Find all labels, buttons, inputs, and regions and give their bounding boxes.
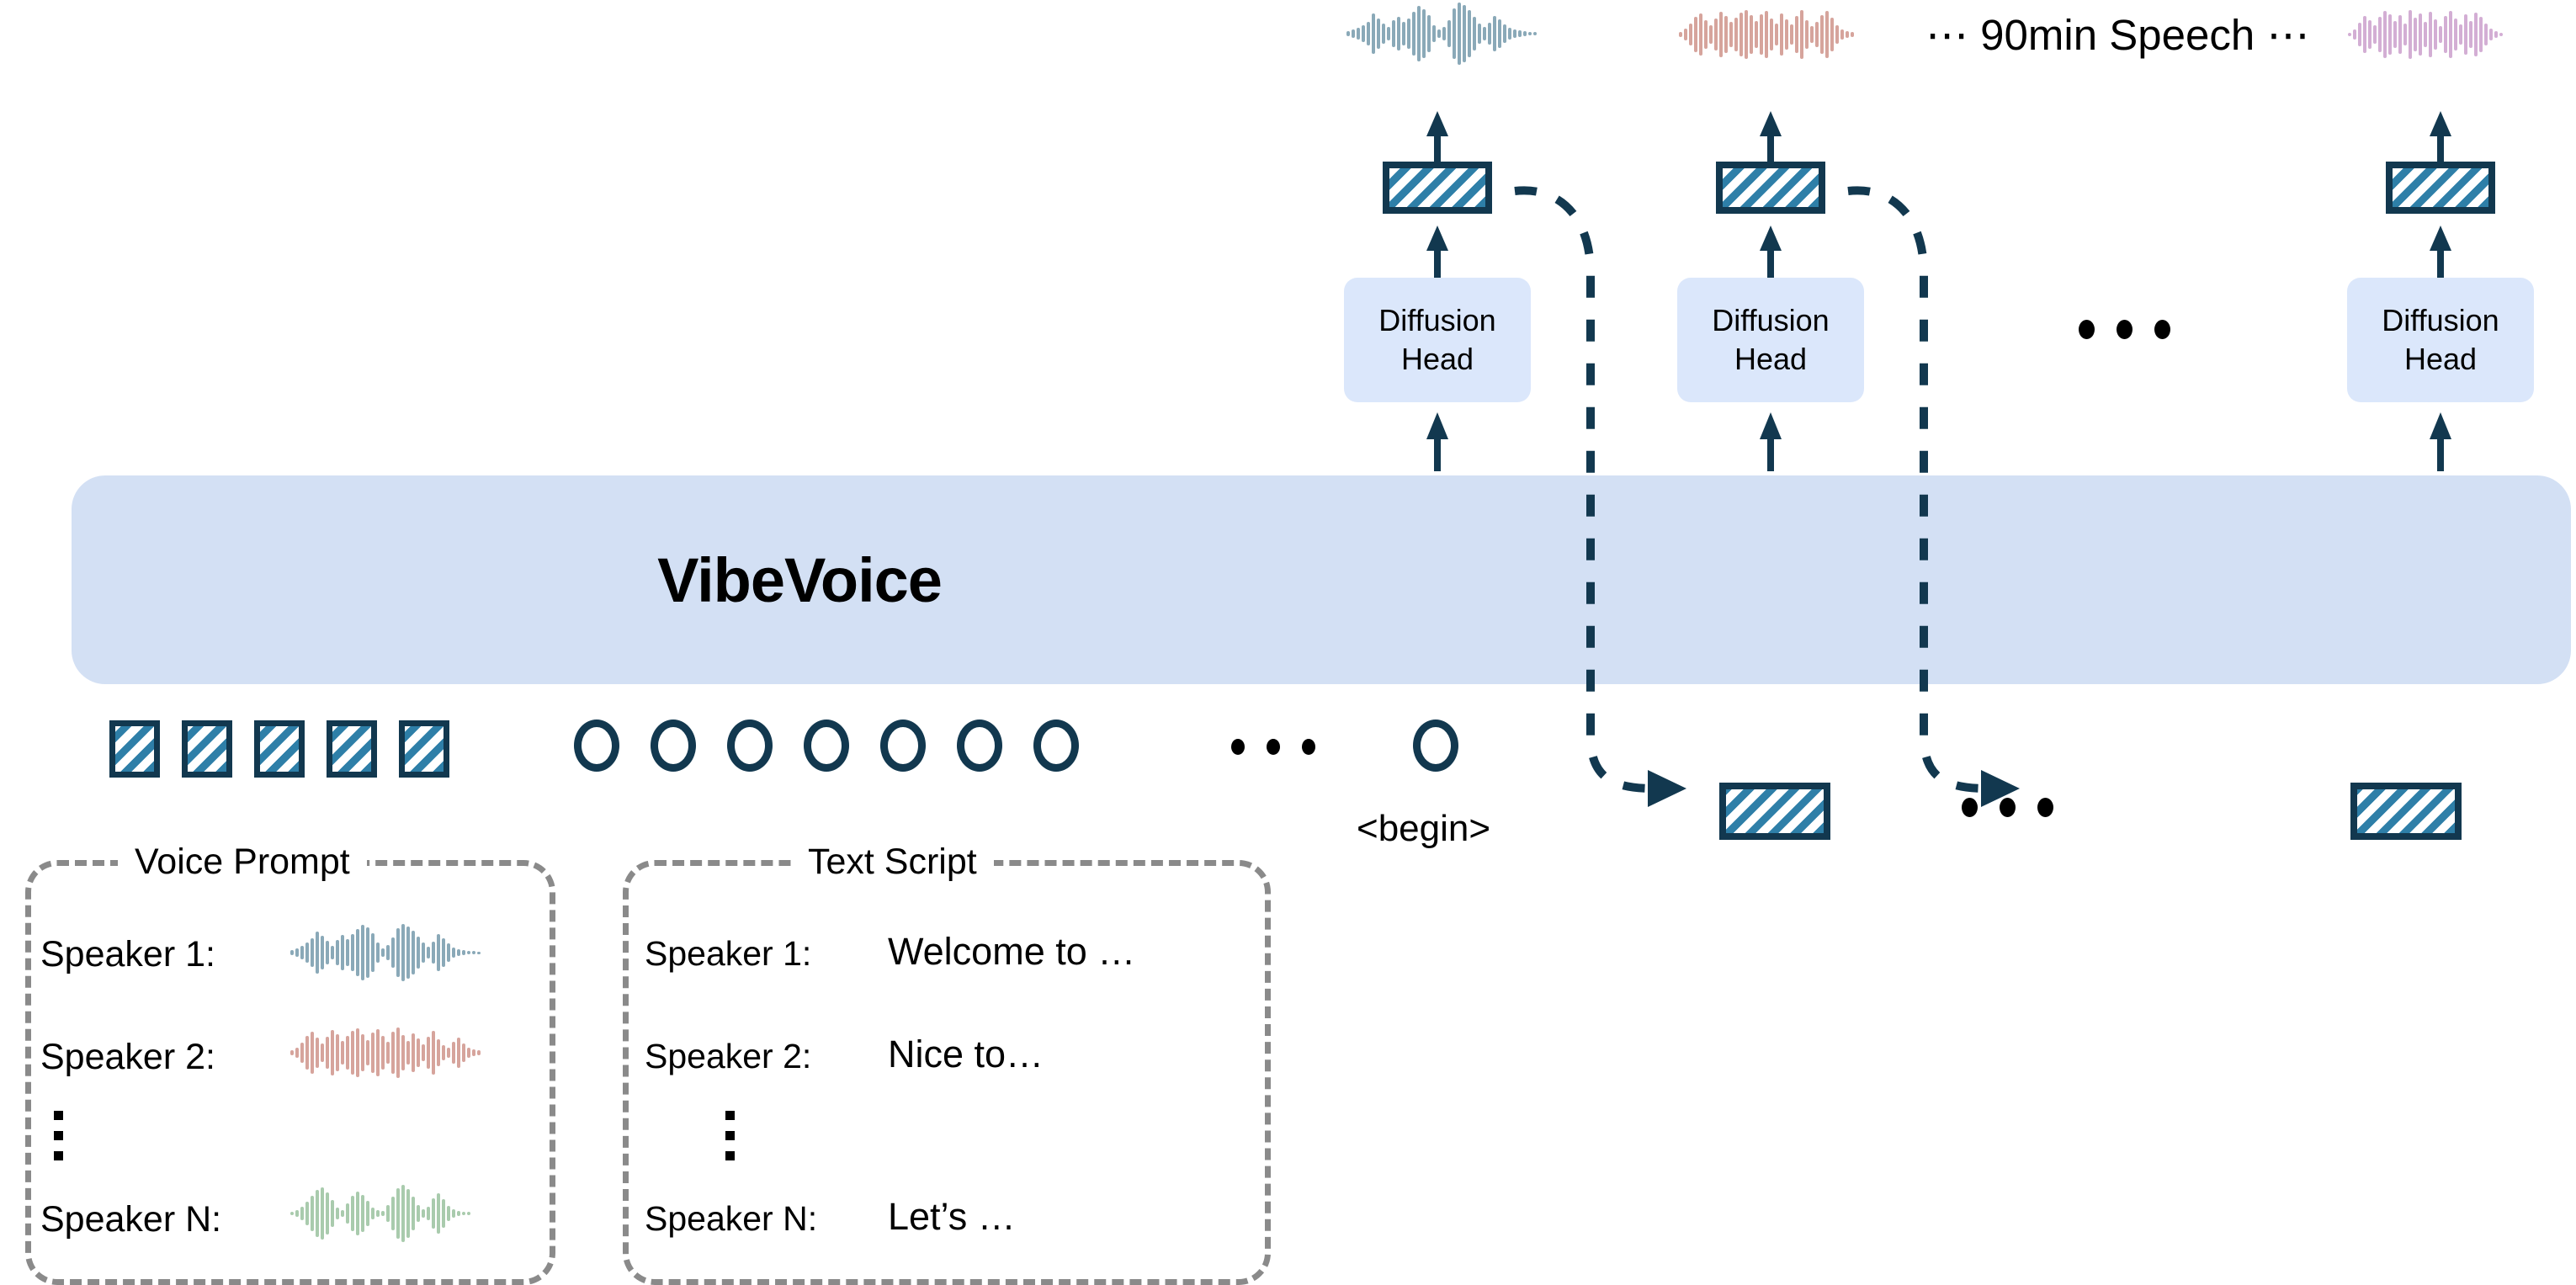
diffusion-head-label-line2: Head — [1401, 340, 1474, 379]
diffusion-head-3[interactable]: Diffusion Head — [2347, 278, 2534, 402]
diffusion-head-2[interactable]: Diffusion Head — [1677, 278, 1864, 402]
voice-prompt-title: Voice Prompt — [118, 842, 367, 883]
begin-token-circle — [1413, 719, 1458, 772]
diffusion-head-1[interactable]: Diffusion Head — [1344, 278, 1531, 402]
diffusion-head-label-line1: Diffusion — [2382, 301, 2499, 340]
feedback-arrow-2 — [1840, 181, 2033, 820]
latent-token-output-3 — [2386, 162, 2495, 214]
text-token — [651, 719, 696, 772]
voice-prompt-waveform-2 — [290, 1027, 501, 1079]
text-script-title: Text Script — [791, 842, 994, 883]
voice-prompt-token — [182, 720, 232, 778]
text-script-speaker-1: Speaker 1: — [645, 934, 811, 974]
diffusion-head-ellipsis — [2079, 320, 2170, 339]
output-waveform-3 — [2348, 8, 2541, 61]
feedback-arrow-1 — [1506, 181, 1700, 820]
text-script-line-1: Welcome to … — [888, 930, 1135, 974]
voice-prompt-speaker-1: Speaker 1: — [40, 934, 215, 975]
diffusion-head-label-line1: Diffusion — [1712, 301, 1829, 340]
vibevoice-model-bar: VibeVoice — [72, 475, 2571, 684]
text-script-line-n: Let’s … — [888, 1195, 1016, 1239]
voice-prompt-token — [327, 720, 377, 778]
arrow-up-to-waveform-1 — [1422, 111, 1453, 165]
speaker-label: Speaker N: — [40, 1199, 221, 1240]
arrow-bar-to-head-3 — [2425, 412, 2456, 471]
output-waveform-2 — [1679, 8, 1872, 61]
voice-prompt-token — [399, 720, 449, 778]
arrow-bar-to-head-2 — [1755, 412, 1786, 471]
voice-prompt-waveform-1 — [290, 924, 501, 981]
latent-token-output-2 — [1716, 162, 1825, 214]
voice-prompt-speaker-2: Speaker 2: — [40, 1037, 215, 1078]
text-token-ellipsis — [1231, 739, 1315, 755]
speaker-label: Speaker 2: — [645, 1037, 811, 1075]
voice-prompt-speaker-n: Speaker N: — [40, 1199, 221, 1240]
generated-token-ellipsis — [1962, 798, 2053, 817]
waveform-blue-icon — [290, 924, 501, 981]
text-token — [574, 719, 619, 772]
latent-token-output-1 — [1383, 162, 1492, 214]
waveform-blue-icon — [1346, 2, 1548, 66]
generated-latent-token-2 — [2350, 783, 2462, 840]
text-token — [804, 719, 849, 772]
text-script-speaker-n: Speaker N: — [645, 1199, 817, 1239]
voice-prompt-waveform-n — [290, 1185, 501, 1242]
text-token — [880, 719, 926, 772]
diffusion-head-label-line2: Head — [1734, 340, 1807, 379]
speaker-label: Speaker N: — [645, 1199, 817, 1238]
speaker-label: Speaker 1: — [645, 934, 811, 973]
text-token — [1033, 719, 1079, 772]
arrow-up-to-waveform-2 — [1755, 111, 1786, 165]
text-token — [727, 719, 773, 772]
speech-duration-label: ⋯ 90min Speech ⋯ — [1925, 10, 2309, 61]
voice-prompt-vertical-ellipsis — [54, 1111, 63, 1160]
voice-prompt-token-row — [109, 720, 449, 778]
diffusion-head-label-line1: Diffusion — [1378, 301, 1495, 340]
diffusion-head-label-line2: Head — [2404, 340, 2477, 379]
model-name-label: VibeVoice — [72, 475, 1527, 684]
speaker-label: Speaker 1: — [40, 934, 215, 974]
arrow-bar-to-head-1 — [1422, 412, 1453, 471]
voice-prompt-token — [109, 720, 160, 778]
output-waveform-1 — [1346, 2, 1548, 66]
generated-latent-token-1 — [1719, 783, 1830, 840]
text-script-line-2: Nice to… — [888, 1033, 1044, 1076]
arrow-head-to-latent-2 — [1755, 226, 1786, 278]
arrow-up-to-waveform-3 — [2425, 111, 2456, 165]
waveform-red-icon — [1679, 8, 1872, 61]
arrow-head-to-latent-3 — [2425, 226, 2456, 278]
waveform-green-icon — [290, 1185, 501, 1242]
voice-prompt-token — [254, 720, 305, 778]
waveform-purple-icon — [2348, 8, 2541, 61]
text-token-row — [574, 719, 1079, 772]
text-token — [957, 719, 1002, 772]
text-script-vertical-ellipsis — [725, 1111, 735, 1160]
arrow-head-to-latent-1 — [1422, 226, 1453, 278]
begin-token-label: <begin> — [1357, 808, 1490, 850]
waveform-red-icon — [290, 1027, 501, 1079]
text-script-speaker-2: Speaker 2: — [645, 1037, 811, 1076]
speaker-label: Speaker 2: — [40, 1037, 215, 1077]
